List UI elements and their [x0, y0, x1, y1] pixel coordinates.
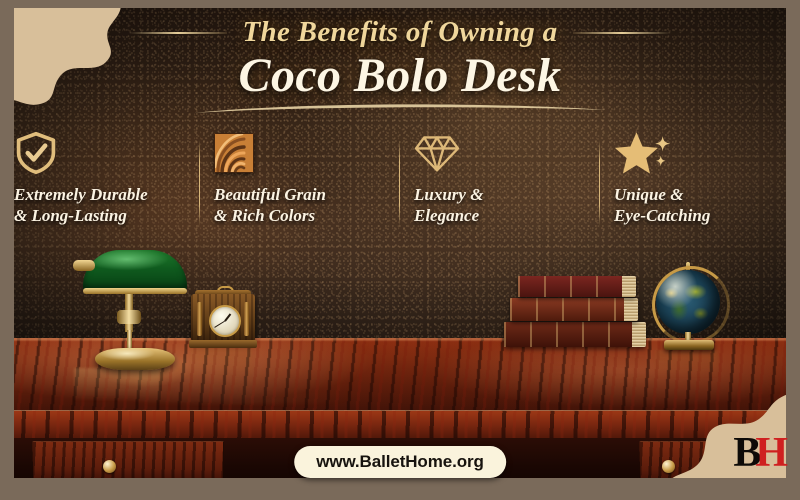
kicker-row: The Benefits of Owning a — [0, 16, 800, 49]
feature-icon-wrap — [414, 130, 600, 176]
vintage-mantel-clock — [189, 286, 257, 348]
frame-top — [0, 0, 800, 8]
feature-icon-wrap — [614, 130, 800, 176]
book-page-edges — [622, 276, 636, 297]
book-spine-bands — [504, 322, 646, 347]
clock-face — [209, 305, 241, 337]
shield-check-icon — [14, 131, 58, 175]
feature-label: Unique & Eye-Catching — [614, 184, 800, 227]
wood-grain-icon — [214, 133, 254, 173]
poster-canvas: The Benefits of Owning a Coco Bolo Desk … — [0, 0, 800, 500]
book-page-edges — [632, 322, 646, 347]
page-title: Coco Bolo Desk — [0, 51, 800, 101]
green-bankers-lamp — [69, 250, 199, 370]
poster-header: The Benefits of Owning a Coco Bolo Desk — [0, 16, 800, 117]
book-bottom — [504, 322, 646, 347]
diamond-icon — [414, 132, 460, 174]
feature-grain: Beautiful Grain & Rich Colors — [200, 130, 400, 230]
star-sparkle-icon — [614, 130, 672, 176]
feature-icon-wrap — [14, 130, 200, 176]
book-spine-bands — [518, 276, 636, 297]
features-row: Extremely Durable & Long-Lasting — [0, 130, 800, 230]
clock-column-left — [197, 302, 202, 336]
feature-label: Luxury & Elegance — [414, 184, 600, 227]
logo-letter-b: B — [733, 430, 755, 476]
clock-column-right — [244, 302, 249, 336]
lamp-knurled-joint — [117, 310, 141, 324]
feature-label-line1: Unique & — [614, 184, 800, 205]
feature-label: Beautiful Grain & Rich Colors — [214, 184, 400, 227]
lamp-brass-base — [95, 348, 175, 370]
book-page-edges — [624, 298, 638, 321]
globe-base — [664, 340, 714, 350]
title-rule-right — [573, 32, 671, 34]
feature-label-line1: Extremely Durable — [14, 184, 200, 205]
feature-label-line2: & Rich Colors — [214, 205, 400, 226]
feature-label-line2: Elegance — [414, 205, 600, 226]
frame-left — [0, 0, 14, 500]
clock-minute-hand — [214, 320, 225, 327]
kicker-text: The Benefits of Owning a — [243, 16, 558, 49]
feature-durable: Extremely Durable & Long-Lasting — [0, 130, 200, 230]
title-swash-flourish — [190, 101, 610, 117]
feature-unique: Unique & Eye-Catching — [600, 130, 800, 230]
desk-drawer-left — [32, 441, 224, 478]
feature-luxury: Luxury & Elegance — [400, 130, 600, 230]
website-url-pill[interactable]: www.BalletHome.org — [294, 446, 506, 478]
book-spine-bands — [510, 298, 638, 321]
lamp-green-shade — [83, 250, 187, 292]
globe-meridian-ring — [652, 266, 730, 344]
stack-of-leather-books — [504, 276, 649, 348]
title-rule-left — [129, 32, 227, 34]
feature-label-line1: Beautiful Grain — [214, 184, 400, 205]
clock-base — [189, 340, 257, 348]
feature-label-line2: & Long-Lasting — [14, 205, 200, 226]
book-top — [518, 276, 636, 297]
drawer-knob-left-icon — [103, 460, 116, 473]
website-url-text: www.BalletHome.org — [316, 452, 484, 472]
lamp-shade-brass-lip — [83, 288, 187, 294]
clock-hour-hand — [224, 313, 231, 321]
logo-letter-h: H — [755, 430, 782, 476]
brand-logo[interactable]: BH — [733, 432, 782, 474]
feature-label: Extremely Durable & Long-Lasting — [14, 184, 200, 227]
book-middle — [510, 298, 638, 321]
feature-label-line1: Luxury & — [414, 184, 600, 205]
frame-right — [786, 0, 800, 500]
feature-label-line2: Eye-Catching — [614, 205, 800, 226]
frame-bottom — [0, 478, 800, 500]
lamp-brass-finial — [73, 260, 95, 271]
antique-globe — [650, 266, 728, 350]
feature-icon-wrap — [214, 130, 400, 176]
